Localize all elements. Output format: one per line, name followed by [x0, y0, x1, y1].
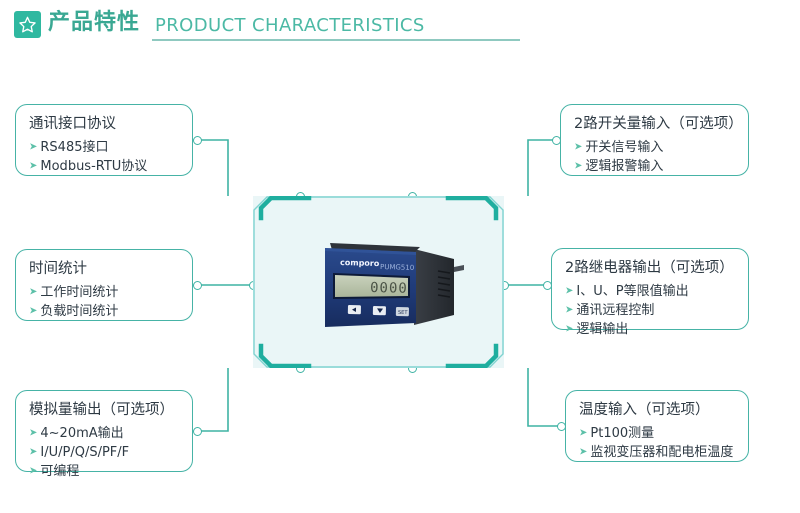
- feature-box-communication[interactable]: 通讯接口协议 ➤ RS485接口 ➤ Modbus-RTU协议: [15, 104, 193, 176]
- feature-item-label: I、U、P等限值输出: [576, 282, 688, 301]
- feature-title: 温度输入（可选项）: [579, 400, 736, 421]
- feature-item: ➤ 监视变压器和配电柜温度: [579, 443, 736, 462]
- feature-item-label: 逻辑输出: [576, 320, 628, 339]
- svg-text:PUMG510: PUMG510: [380, 263, 414, 272]
- feature-item: ➤ 开关信号输入: [574, 138, 736, 157]
- feature-item-label: RS485接口: [40, 138, 108, 157]
- feature-item-label: 负载时间统计: [40, 302, 118, 321]
- feature-item-label: I/U/P/Q/S/PF/F: [40, 443, 129, 462]
- feature-item-label: Pt100测量: [590, 424, 654, 443]
- bullet-arrow-icon: ➤: [574, 157, 582, 176]
- svg-text:0000: 0000: [370, 280, 408, 297]
- feature-item-label: 逻辑报警输入: [585, 157, 663, 176]
- bullet-arrow-icon: ➤: [29, 302, 37, 321]
- feature-item: ➤ 逻辑报警输入: [574, 157, 736, 176]
- feature-item-label: 4~20mA输出: [40, 424, 123, 443]
- bullet-arrow-icon: ➤: [29, 443, 37, 462]
- feature-box-relay-output[interactable]: 2路继电器输出（可选项） ➤ I、U、P等限值输出 ➤ 通讯远程控制 ➤ 逻辑输…: [551, 248, 749, 330]
- bullet-arrow-icon: ➤: [565, 301, 573, 320]
- bullet-arrow-icon: ➤: [29, 424, 37, 443]
- wire-node-time: [193, 281, 202, 290]
- feature-title: 时间统计: [29, 259, 180, 280]
- feature-item: ➤ I/U/P/Q/S/PF/F: [29, 443, 180, 462]
- bullet-arrow-icon: ➤: [579, 424, 587, 443]
- product-characteristics-page: 产品特性 PRODUCT CHARACTERISTICS: [0, 0, 800, 513]
- feature-item: ➤ 可编程: [29, 462, 180, 481]
- feature-item-label: Modbus-RTU协议: [40, 157, 147, 176]
- feature-title: 模拟量输出（可选项）: [29, 400, 180, 421]
- feature-item-label: 可编程: [40, 462, 79, 481]
- feature-item-label: 工作时间统计: [40, 283, 118, 302]
- feature-item-label: 开关信号输入: [585, 138, 663, 157]
- feature-item: ➤ 工作时间统计: [29, 283, 180, 302]
- feature-item: ➤ Pt100测量: [579, 424, 736, 443]
- feature-item: ➤ 逻辑输出: [565, 320, 736, 339]
- product-device-image: comporo PUMG510 0000 SET: [292, 237, 472, 333]
- feature-item-label: 监视变压器和配电柜温度: [590, 443, 733, 462]
- feature-box-switch-input[interactable]: 2路开关量输入（可选项） ➤ 开关信号输入 ➤ 逻辑报警输入: [560, 104, 749, 176]
- feature-item: ➤ 通讯远程控制: [565, 301, 736, 320]
- feature-item: ➤ I、U、P等限值输出: [565, 282, 736, 301]
- feature-box-temperature-input[interactable]: 温度输入（可选项） ➤ Pt100测量 ➤ 监视变压器和配电柜温度: [565, 390, 749, 462]
- bullet-arrow-icon: ➤: [29, 462, 37, 481]
- feature-item-label: 通讯远程控制: [576, 301, 654, 320]
- svg-text:SET: SET: [398, 310, 408, 316]
- bullet-arrow-icon: ➤: [565, 320, 573, 339]
- feature-box-time-statistics[interactable]: 时间统计 ➤ 工作时间统计 ➤ 负载时间统计: [15, 249, 193, 321]
- svg-text:comporo: comporo: [340, 258, 380, 268]
- feature-item: ➤ RS485接口: [29, 138, 180, 157]
- bullet-arrow-icon: ➤: [579, 443, 587, 462]
- feature-item: ➤ 负载时间统计: [29, 302, 180, 321]
- wire-node-analog: [193, 427, 202, 436]
- bullet-arrow-icon: ➤: [29, 157, 37, 176]
- bullet-arrow-icon: ➤: [574, 138, 582, 157]
- bullet-arrow-icon: ➤: [29, 283, 37, 302]
- feature-title: 2路继电器输出（可选项）: [565, 258, 736, 279]
- feature-title: 通讯接口协议: [29, 114, 180, 135]
- feature-item: ➤ Modbus-RTU协议: [29, 157, 180, 176]
- feature-title: 2路开关量输入（可选项）: [574, 114, 736, 135]
- bullet-arrow-icon: ➤: [565, 282, 573, 301]
- feature-box-analog-output[interactable]: 模拟量输出（可选项） ➤ 4~20mA输出 ➤ I/U/P/Q/S/PF/F ➤…: [15, 390, 193, 472]
- bullet-arrow-icon: ➤: [29, 138, 37, 157]
- feature-item: ➤ 4~20mA输出: [29, 424, 180, 443]
- wire-node-comm: [193, 136, 202, 145]
